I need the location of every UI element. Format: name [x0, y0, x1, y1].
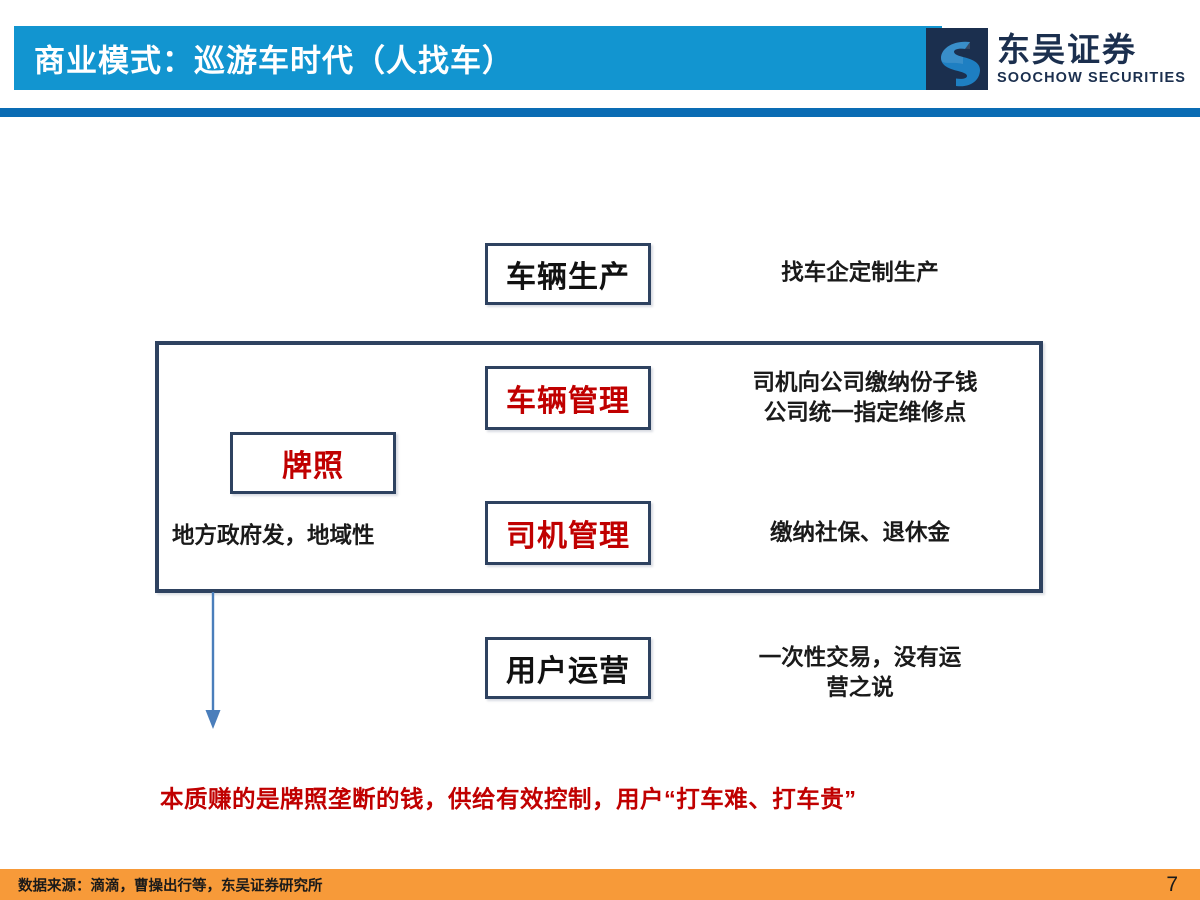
page-number: 7 [1166, 873, 1178, 897]
header-divider-rule [0, 108, 1200, 117]
desc-vehicle-management: 司机向公司缴纳份子钱 公司统一指定维修点 [700, 368, 1030, 427]
logo-wordmark: 东吴证券 SOOCHOW SECURITIES [997, 33, 1186, 86]
conclusion-text: 本质赚的是牌照垄断的钱，供给有效控制，用户“打车难、打车贵” [160, 780, 857, 814]
node-driver-management: 司机管理 [485, 501, 651, 565]
down-arrow-icon [200, 592, 226, 732]
header-bar: 商业模式：巡游车时代（人找车） [14, 26, 942, 90]
footer-bar: 数据来源：滴滴，曹操出行等，东吴证券研究所 7 [0, 869, 1200, 900]
node-vehicle-production: 车辆生产 [485, 243, 651, 305]
node-vehicle-management: 车辆管理 [485, 366, 651, 430]
brand-logo: 东吴证券 SOOCHOW SECURITIES [926, 26, 1186, 92]
slide: 商业模式：巡游车时代（人找车） 东吴证券 SOOCHOW SECURITIES … [0, 0, 1200, 900]
page-title: 商业模式：巡游车时代（人找车） [34, 36, 514, 81]
logo-name-cn: 东吴证券 [997, 33, 1186, 66]
desc-vehicle-production: 找车企定制生产 [700, 258, 1020, 288]
logo-name-en: SOOCHOW SECURITIES [997, 71, 1186, 86]
desc-user-operation: 一次性交易，没有运 营之说 [700, 643, 1020, 702]
license-caption: 地方政府发，地域性 [172, 518, 375, 550]
desc-driver-management: 缴纳社保、退休金 [700, 518, 1020, 548]
node-user-operation: 用户运营 [485, 637, 651, 699]
data-source-text: 数据来源：滴滴，曹操出行等，东吴证券研究所 [18, 874, 323, 895]
soochow-s-mark-icon [926, 28, 988, 90]
node-license: 牌照 [230, 432, 396, 494]
